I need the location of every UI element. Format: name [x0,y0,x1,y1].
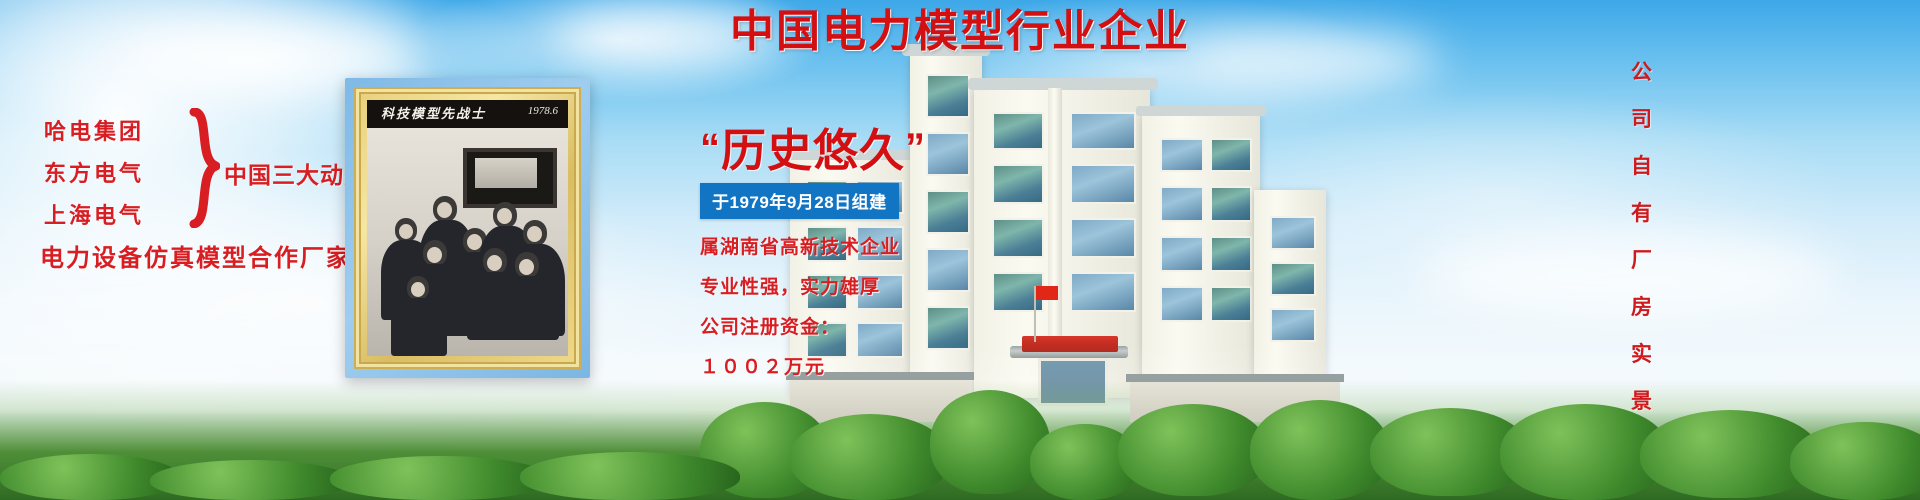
person-body [391,298,447,356]
person-face [427,247,442,263]
person-face [519,259,534,275]
headline-text: 历史悠久 [721,125,905,176]
quote-close: ” [905,126,926,170]
company-list: 哈电集团 东方电气 上海电气 中国三大动力 [38,108,368,228]
tree [790,414,950,500]
vertical-char: 司 [1622,103,1662,133]
fence-cap [1126,374,1344,382]
vertical-char: 公 [1622,56,1662,86]
vertical-char: 自 [1622,150,1662,180]
window [1070,164,1136,204]
detail-line: 公司注册资金： [700,312,980,339]
building-roof [1136,106,1266,116]
person-face [467,234,482,250]
vertical-char: 景 [1622,385,1662,415]
window [1070,112,1136,150]
tree [520,452,740,500]
photo-banner-title: 科技模型先战士 [381,103,486,122]
person-face [411,282,425,297]
company-item: 东方电气 [44,156,144,188]
photo-banner: 科技模型先战士 1978.6 [367,100,568,128]
window [1160,286,1204,322]
window [1160,138,1204,172]
vertical-char: 房 [1622,291,1662,321]
vertical-caption: 公 司 自 有 厂 房 实 景 [1622,56,1662,432]
person-body [499,276,559,340]
window [1210,186,1252,222]
window [992,218,1044,258]
window [992,112,1044,150]
window [1070,218,1136,258]
founding-date-badge: 于1979年9月28日组建 [700,183,899,219]
tree [1790,422,1920,500]
window [1160,236,1204,272]
window [926,74,970,118]
tree [150,460,350,500]
center-roof [968,78,1158,90]
person-face [399,224,413,239]
window [1270,308,1316,342]
vertical-char: 厂 [1622,244,1662,274]
tree [330,456,550,500]
person-face [487,255,502,271]
company-item: 哈电集团 [44,114,144,146]
promo-banner: 中国电力模型行业企业 哈电集团 东方电气 上海电气 中国三大动力 电力设备仿真模… [0,0,1920,500]
window [1210,236,1252,272]
flag [1036,286,1058,300]
window [1210,286,1252,322]
window [1270,216,1316,250]
page-title: 中国电力模型行业企业 [0,8,1920,56]
registered-capital-value: １００２万元 [700,352,980,379]
window [1210,138,1252,172]
curly-brace-icon [188,108,220,228]
vertical-char: 实 [1622,338,1662,368]
tree [1118,404,1268,496]
vertical-char: 有 [1622,197,1662,227]
left-bottom-line: 电力设备仿真模型合作厂家 [40,238,352,273]
window [1070,272,1136,312]
photo-banner-date: 1978.6 [528,105,558,117]
window [1270,262,1316,296]
photo-blackboard [463,148,557,208]
tree [930,390,1050,494]
detail-line: 专业性强，实力雄厚 [700,272,980,299]
window [992,164,1044,204]
detail-line: 属湖南省高新技术企业 [700,232,980,259]
center-text-block: “历史悠久” 于1979年9月28日组建 属湖南省高新技术企业 专业性强，实力雄… [700,128,980,379]
person-face [497,208,512,224]
person-face [527,226,542,242]
quote-open: “ [700,126,721,170]
historic-photo-frame: 科技模型先战士 1978.6 [345,78,590,378]
headline-history: “历史悠久” [700,128,980,173]
historic-group-photo: 科技模型先战士 1978.6 [367,100,568,356]
tree [1250,400,1390,500]
left-text-block: 哈电集团 东方电气 上海电气 中国三大动力 电力设备仿真模型合作厂家 [38,108,368,228]
company-item: 上海电气 [44,198,144,230]
person-face [437,202,452,218]
window [1160,186,1204,222]
